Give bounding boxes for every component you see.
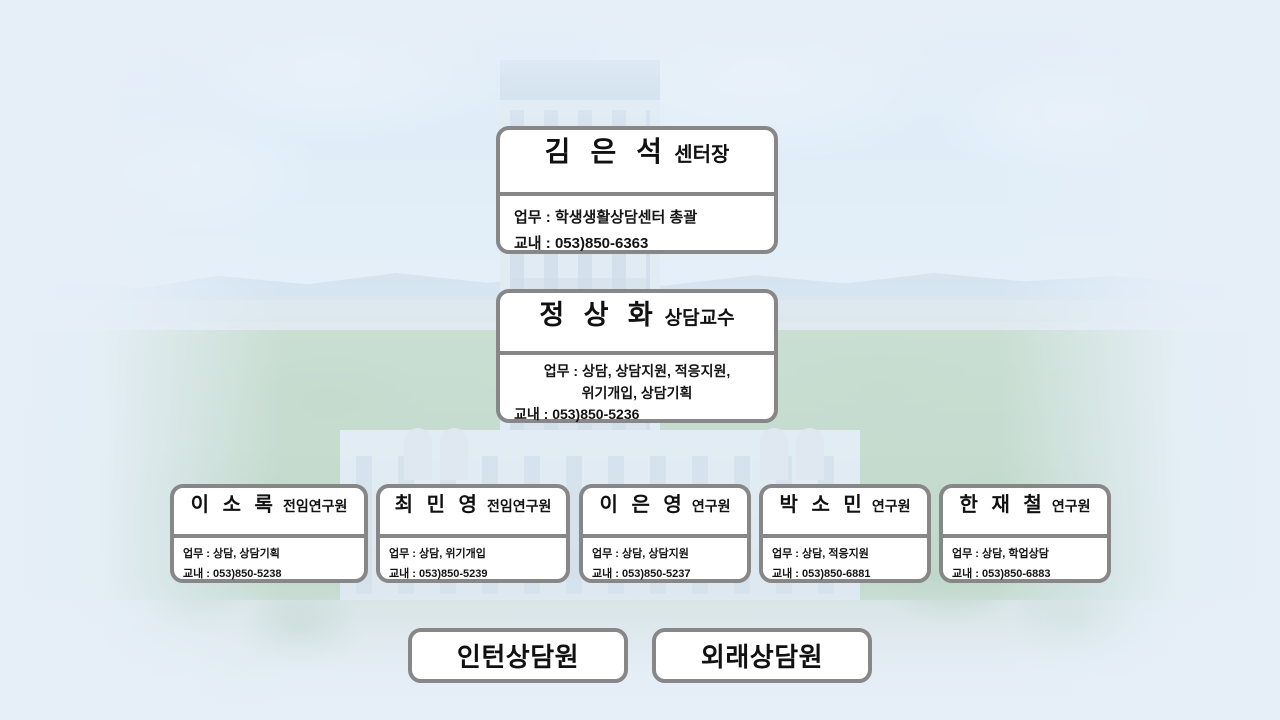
researcher-person-name: 이 은 영 <box>600 488 686 517</box>
director-name-row: 김 은 석 센터장 <box>500 130 774 192</box>
professor-name-row: 정 상 화 상담교수 <box>500 293 774 351</box>
researcher-name-row: 한 재 철 연구원 <box>943 488 1107 534</box>
colon: : <box>546 209 555 226</box>
researcher-details: 업무 : 상담, 위기개입 교내 : 053)850-5239 <box>380 538 566 585</box>
researcher-person-name: 최 민 영 <box>395 488 481 517</box>
researcher-details: 업무 : 상담, 상담지원 교내 : 053)850-5237 <box>583 538 747 585</box>
org-node-researcher[interactable]: 최 민 영 전임연구원 업무 : 상담, 위기개입 교내 : 053)850-5… <box>376 484 570 583</box>
researcher-name-row: 이 소 록 전임연구원 <box>174 488 364 534</box>
researcher-phone-line: 교내 : 053)850-5239 <box>389 564 566 584</box>
researcher-role-title: 연구원 <box>872 496 911 516</box>
professor-details: 업무 : 상담, 상담지원, 적응지원, 위기개입, 상담기획 교내 : 053… <box>500 355 774 426</box>
professor-duty-line-1: 업무 : 상담, 상담지원, 적응지원, <box>510 361 764 383</box>
researcher-duty-line: 업무 : 상담, 상담지원 <box>592 544 747 564</box>
researcher-name-row: 박 소 민 연구원 <box>763 488 927 534</box>
researcher-details: 업무 : 상담, 상담기획 교내 : 053)850-5238 <box>174 538 364 585</box>
org-node-researcher[interactable]: 박 소 민 연구원 업무 : 상담, 적응지원 교내 : 053)850-688… <box>759 484 931 583</box>
researcher-duty-line: 업무 : 상담, 학업상담 <box>952 544 1107 564</box>
director-role-title: 센터장 <box>674 138 729 167</box>
org-node-researcher[interactable]: 이 은 영 연구원 업무 : 상담, 상담지원 교내 : 053)850-523… <box>579 484 751 583</box>
org-node-director[interactable]: 김 은 석 센터장 업무 : 학생생활상담센터 총괄 교내 : 053)850-… <box>496 126 778 254</box>
researcher-name-row: 이 은 영 연구원 <box>583 488 747 534</box>
director-details: 업무 : 학생생활상담센터 총괄 교내 : 053)850-6363 <box>500 196 774 258</box>
professor-duty-line-2: 위기개입, 상담기획 <box>510 383 764 405</box>
researcher-role-title: 전임연구원 <box>487 496 551 516</box>
organization-chart-page: 김 은 석 센터장 업무 : 학생생활상담센터 총괄 교내 : 053)850-… <box>0 0 1280 720</box>
researcher-role-title: 전임연구원 <box>283 496 347 516</box>
colon: : <box>546 235 555 252</box>
researcher-phone-line: 교내 : 053)850-6881 <box>772 564 927 584</box>
researcher-phone-line: 교내 : 053)850-6883 <box>952 564 1107 584</box>
director-phone-label: 교내 <box>514 235 542 252</box>
researcher-duty-line: 업무 : 상담, 적응지원 <box>772 544 927 564</box>
researcher-duty-line: 업무 : 상담, 위기개입 <box>389 544 566 564</box>
researcher-role-title: 연구원 <box>1052 496 1091 516</box>
researcher-person-name: 이 소 록 <box>191 488 277 517</box>
professor-phone-line: 교내 : 053)850-5236 <box>510 404 764 426</box>
org-node-researcher[interactable]: 한 재 철 연구원 업무 : 상담, 학업상담 교내 : 053)850-688… <box>939 484 1111 583</box>
researcher-duty-line: 업무 : 상담, 상담기획 <box>183 544 364 564</box>
director-duty-label: 업무 <box>514 209 542 226</box>
researcher-person-name: 박 소 민 <box>780 488 866 517</box>
director-duty-value: 학생생활상담센터 총괄 <box>555 209 697 226</box>
director-person-name: 김 은 석 <box>545 130 669 170</box>
researcher-name-row: 최 민 영 전임연구원 <box>380 488 566 534</box>
org-node-researcher[interactable]: 이 소 록 전임연구원 업무 : 상담, 상담기획 교내 : 053)850-5… <box>170 484 368 583</box>
director-duty-line: 업무 : 학생생활상담센터 총괄 <box>514 205 762 231</box>
researcher-details: 업무 : 상담, 학업상담 교내 : 053)850-6883 <box>943 538 1107 585</box>
researcher-person-name: 한 재 철 <box>960 488 1046 517</box>
director-phone-value: 053)850-6363 <box>555 235 648 252</box>
researcher-details: 업무 : 상담, 적응지원 교내 : 053)850-6881 <box>763 538 927 585</box>
researcher-phone-line: 교내 : 053)850-5237 <box>592 564 747 584</box>
org-node-counselling-professor[interactable]: 정 상 화 상담교수 업무 : 상담, 상담지원, 적응지원, 위기개입, 상담… <box>496 289 778 423</box>
director-phone-line: 교내 : 053)850-6363 <box>514 231 762 257</box>
org-node-intern-counsellor[interactable]: 인턴상담원 <box>408 628 628 683</box>
professor-role-title: 상담교수 <box>665 303 735 330</box>
org-node-external-counsellor[interactable]: 외래상담원 <box>652 628 872 683</box>
researcher-role-title: 연구원 <box>692 496 731 516</box>
researcher-phone-line: 교내 : 053)850-5238 <box>183 564 364 584</box>
professor-person-name: 정 상 화 <box>539 293 658 332</box>
